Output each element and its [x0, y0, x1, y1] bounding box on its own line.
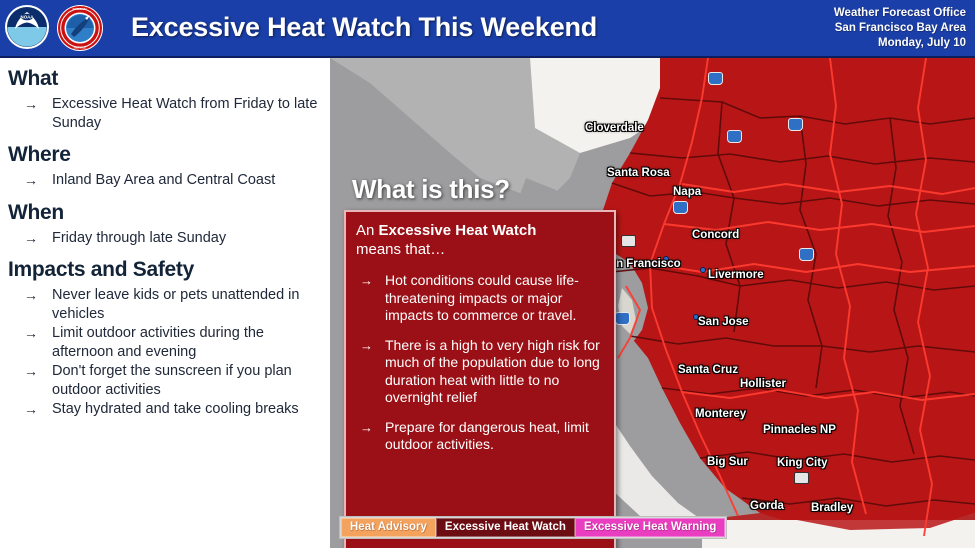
section-heading-what: What [8, 66, 324, 91]
arrow-icon: → [24, 95, 38, 114]
list-item-text: Never leave kids or pets unattended in v… [52, 287, 299, 322]
list-item: → Stay hydrated and take cooling breaks [8, 400, 324, 419]
list-item: → Never leave kids or pets unattended in… [8, 286, 324, 323]
list-item: → Prepare for dangerous heat, limit outd… [356, 419, 604, 454]
legend-item-excessive-heat-watch[interactable]: Excessive Heat Watch [436, 518, 575, 537]
city-dot [700, 267, 706, 273]
list-item: → Limit outdoor activities during the af… [8, 324, 324, 361]
when-list: → Friday through late Sunday [8, 229, 324, 248]
info-panel: What → Excessive Heat Watch from Friday … [0, 58, 330, 548]
header-bar: NOAA NATIONAL SERVICE Excessive Heat Wat… [0, 0, 975, 58]
callout-lead-term: Excessive Heat Watch [379, 222, 537, 239]
arrow-icon: → [24, 362, 38, 381]
list-item-text: Limit outdoor activities during the afte… [52, 325, 264, 360]
definition-callout: An Excessive Heat Watch means that… → Ho… [344, 210, 616, 548]
list-item: → There is a high to very high risk for … [356, 337, 604, 407]
callout-lead-prefix: An [356, 222, 379, 239]
city-dot [693, 314, 699, 320]
section-heading-impacts: Impacts and Safety [8, 257, 324, 282]
list-item-text: Inland Bay Area and Central Coast [52, 172, 275, 188]
us-route-shield-icon [794, 472, 809, 484]
map-legend: Heat Advisory Excessive Heat Watch Exces… [339, 516, 727, 539]
arrow-icon: → [360, 419, 373, 437]
arrow-icon: → [24, 400, 38, 419]
noaa-logo: NOAA [4, 4, 50, 50]
callout-bullet-list: → Hot conditions could cause life-threat… [356, 272, 604, 454]
interstate-shield-icon [799, 248, 814, 261]
interstate-shield-icon [788, 118, 803, 131]
arrow-icon: → [24, 171, 38, 190]
arrow-icon: → [24, 324, 38, 343]
list-item-text: Stay hydrated and take cooling breaks [52, 401, 299, 417]
interstate-shield-icon [727, 130, 742, 143]
issue-date: Monday, July 10 [834, 36, 966, 51]
forecast-office-info: Weather Forecast Office San Francisco Ba… [834, 6, 966, 51]
list-item: → Inland Bay Area and Central Coast [8, 171, 324, 190]
office-name: Weather Forecast Office [834, 6, 966, 21]
list-item-text: Don't forget the sunscreen if you plan o… [52, 363, 292, 398]
list-item-text: Excessive Heat Watch from Friday to late… [52, 96, 317, 131]
nws-logo: NATIONAL SERVICE [54, 4, 106, 52]
callout-lead-suffix: means that… [356, 241, 445, 258]
arrow-icon: → [24, 286, 38, 305]
callout-lead: An Excessive Heat Watch means that… [356, 221, 604, 259]
list-item: → Excessive Heat Watch from Friday to la… [8, 95, 324, 132]
arrow-icon: → [24, 229, 38, 248]
interstate-shield-icon [673, 201, 688, 214]
weather-graphic: NOAA NATIONAL SERVICE Excessive Heat Wat… [0, 0, 975, 548]
list-item: → Friday through late Sunday [8, 229, 324, 248]
svg-text:SERVICE: SERVICE [74, 46, 87, 50]
list-item-text: Friday through late Sunday [52, 230, 226, 246]
svg-text:NOAA: NOAA [21, 15, 35, 20]
legend-item-heat-advisory[interactable]: Heat Advisory [341, 518, 436, 537]
list-item-text: Hot conditions could cause life-threaten… [385, 272, 579, 323]
us-route-shield-icon [621, 235, 636, 247]
list-item-text: Prepare for dangerous heat, limit outdoo… [385, 419, 589, 453]
page-title: Excessive Heat Watch This Weekend [131, 12, 597, 43]
list-item-text: There is a high to very high risk for mu… [385, 337, 600, 406]
interstate-shield-icon [615, 312, 630, 325]
office-region: San Francisco Bay Area [834, 21, 966, 36]
what-list: → Excessive Heat Watch from Friday to la… [8, 95, 324, 132]
city-dot [663, 256, 669, 262]
interstate-shield-icon [708, 72, 723, 85]
where-list: → Inland Bay Area and Central Coast [8, 171, 324, 190]
callout-heading: What is this? [352, 174, 510, 205]
arrow-icon: → [360, 337, 373, 355]
list-item: → Hot conditions could cause life-threat… [356, 272, 604, 325]
legend-item-excessive-heat-warning[interactable]: Excessive Heat Warning [575, 518, 726, 537]
impacts-list: → Never leave kids or pets unattended in… [8, 286, 324, 419]
section-heading-when: When [8, 200, 324, 225]
list-item: → Don't forget the sunscreen if you plan… [8, 362, 324, 399]
arrow-icon: → [360, 272, 373, 290]
svg-text:NATIONAL: NATIONAL [73, 7, 88, 11]
alert-map[interactable]: Cloverdale Santa Rosa Napa Concord San F… [330, 58, 975, 548]
section-heading-where: Where [8, 142, 324, 167]
